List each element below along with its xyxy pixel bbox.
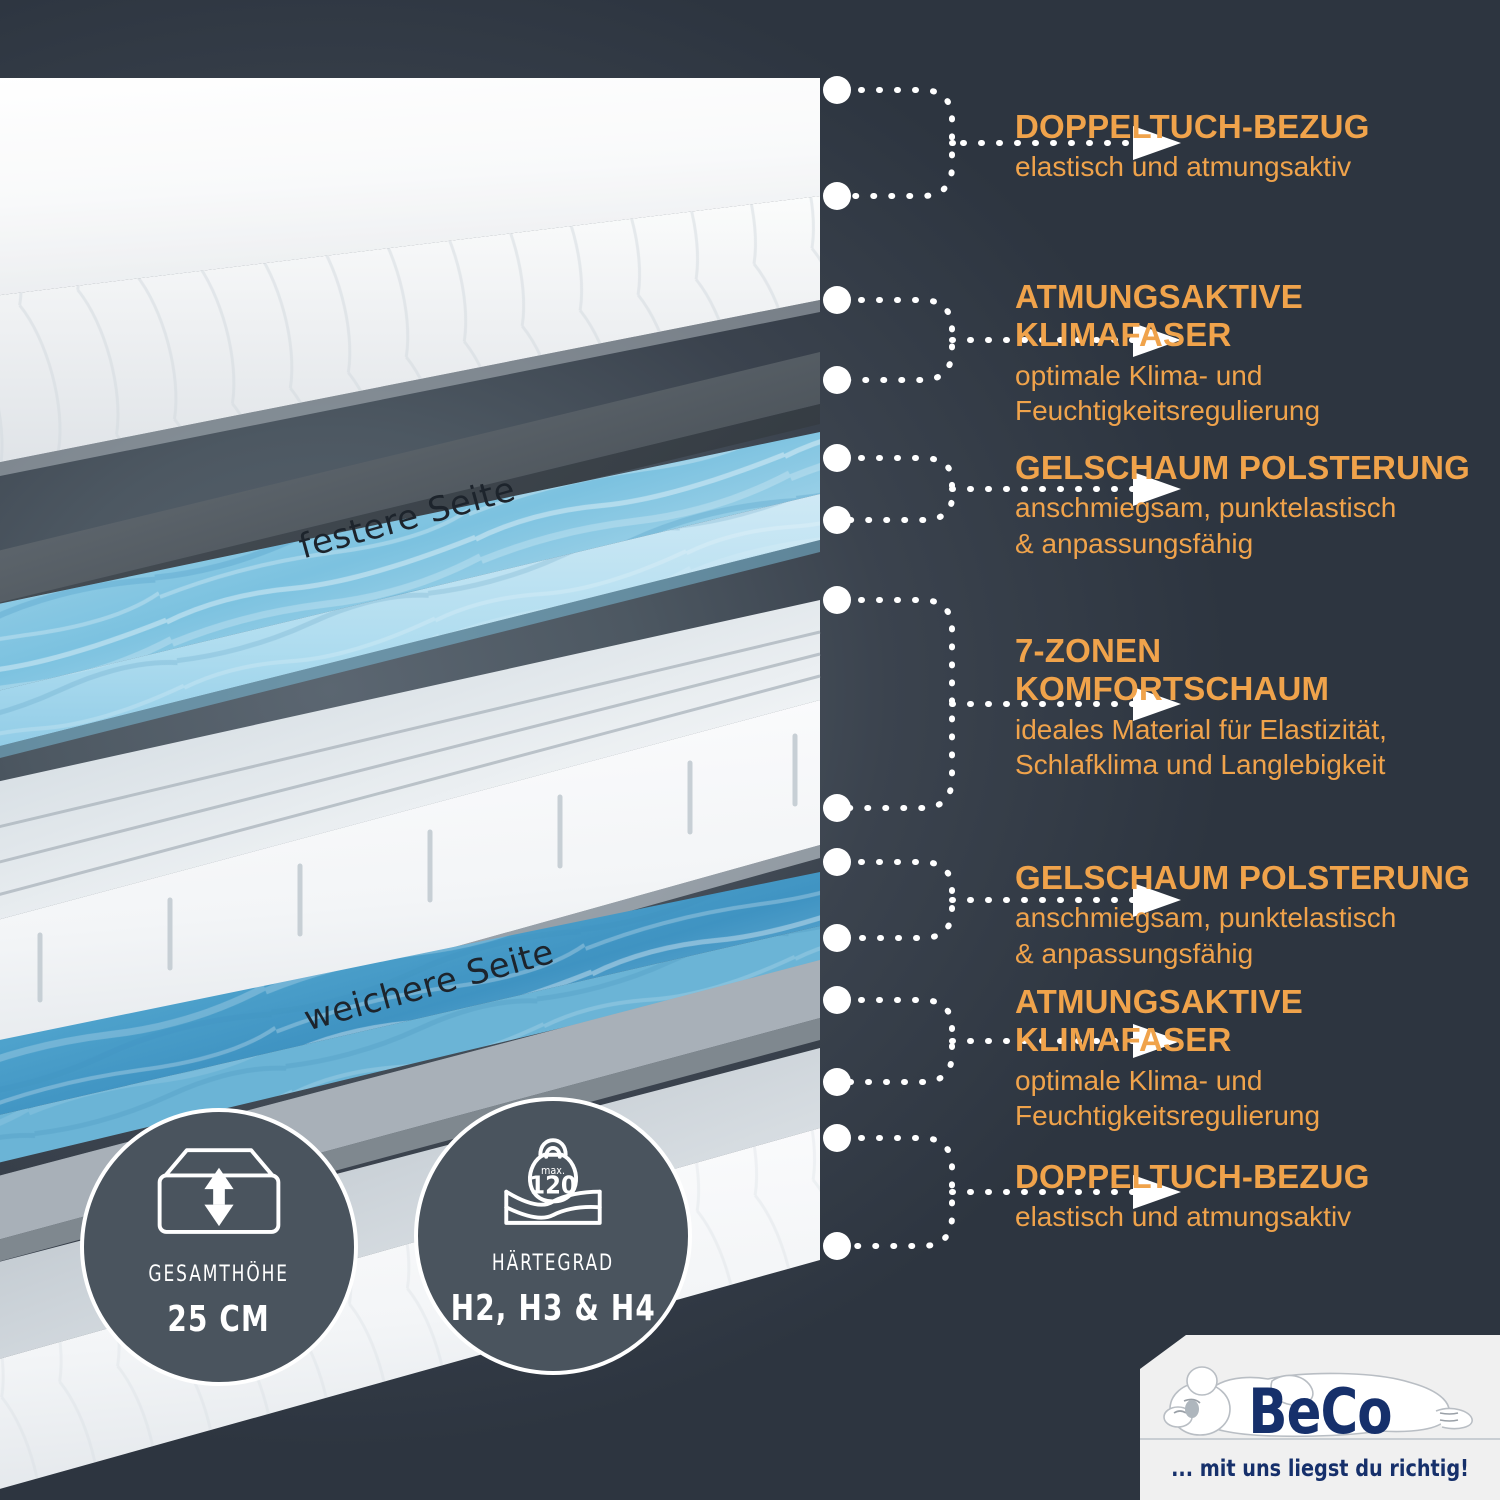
badge-value: H2, H3 & H4 <box>450 1288 655 1329</box>
badge-total-height: GESAMTHÖHE 25 CM <box>80 1108 358 1386</box>
callout-subtitle: optimale Klima- und Feuchtigkeitsregulie… <box>1015 1063 1320 1134</box>
badge-icon-large-text: 120 <box>529 1171 577 1200</box>
callout-subtitle: ideales Material für Elastizität, Schlaf… <box>1015 712 1387 783</box>
callout-subtitle: elastisch und atmungsaktiv <box>1015 149 1370 184</box>
callout-doppeltuch-bezug-top: DOPPELTUCH-BEZUG elastisch und atmungsak… <box>1015 108 1370 185</box>
beco-tagline: ... mit uns liegst du richtig! <box>1171 1456 1469 1482</box>
infographic-stage: festere Seite weichere Seite <box>0 0 1500 1500</box>
callout-atmungsaktive-klimafaser-bottom: ATMUNGSAKTIVE KLIMAFASER optimale Klima-… <box>1015 983 1320 1133</box>
callout-title: DOPPELTUCH-BEZUG <box>1015 108 1370 146</box>
callout-title: ATMUNGSAKTIVE KLIMAFASER <box>1015 278 1320 355</box>
logo-corner-cut <box>1140 1335 1186 1369</box>
callout-gelschaum-polsterung-top: GELSCHAUM POLSTERUNG anschmiegsam, punkt… <box>1015 449 1470 561</box>
badge-value: 25 CM <box>168 1299 271 1340</box>
mattress-height-icon <box>146 1138 292 1248</box>
beco-wordmark: BeCo <box>1248 1381 1391 1443</box>
kettlebell-on-mattress-icon: max. 120 <box>480 1127 626 1237</box>
callout-title: GELSCHAUM POLSTERUNG <box>1015 449 1470 487</box>
callout-subtitle: anschmiegsam, punktelastisch & anpassung… <box>1015 900 1470 971</box>
callout-7-zonen-komfortschaum: 7-ZONEN KOMFORTSCHAUM ideales Material f… <box>1015 632 1387 782</box>
callout-subtitle: optimale Klima- und Feuchtigkeitsregulie… <box>1015 358 1320 429</box>
callout-subtitle: elastisch und atmungsaktiv <box>1015 1199 1370 1234</box>
callout-subtitle: anschmiegsam, punktelastisch & anpassung… <box>1015 490 1470 561</box>
connector-endpoint-dots <box>823 76 851 1260</box>
beco-logo: BeCo ... mit uns liegst du richtig! <box>1140 1335 1500 1500</box>
callout-title: 7-ZONEN KOMFORTSCHAUM <box>1015 632 1387 709</box>
badge-label: HÄRTEGRAD <box>492 1251 614 1276</box>
callout-atmungsaktive-klimafaser-top: ATMUNGSAKTIVE KLIMAFASER optimale Klima-… <box>1015 278 1320 428</box>
badge-label: GESAMTHÖHE <box>149 1262 290 1287</box>
callout-doppeltuch-bezug-bottom: DOPPELTUCH-BEZUG elastisch und atmungsak… <box>1015 1158 1370 1235</box>
callout-title: GELSCHAUM POLSTERUNG <box>1015 859 1470 897</box>
callout-gelschaum-polsterung-bottom: GELSCHAUM POLSTERUNG anschmiegsam, punkt… <box>1015 859 1470 971</box>
callout-title: ATMUNGSAKTIVE KLIMAFASER <box>1015 983 1320 1060</box>
callout-title: DOPPELTUCH-BEZUG <box>1015 1158 1370 1196</box>
badge-firmness-grade: max. 120 HÄRTEGRAD H2, H3 & H4 <box>414 1097 692 1375</box>
